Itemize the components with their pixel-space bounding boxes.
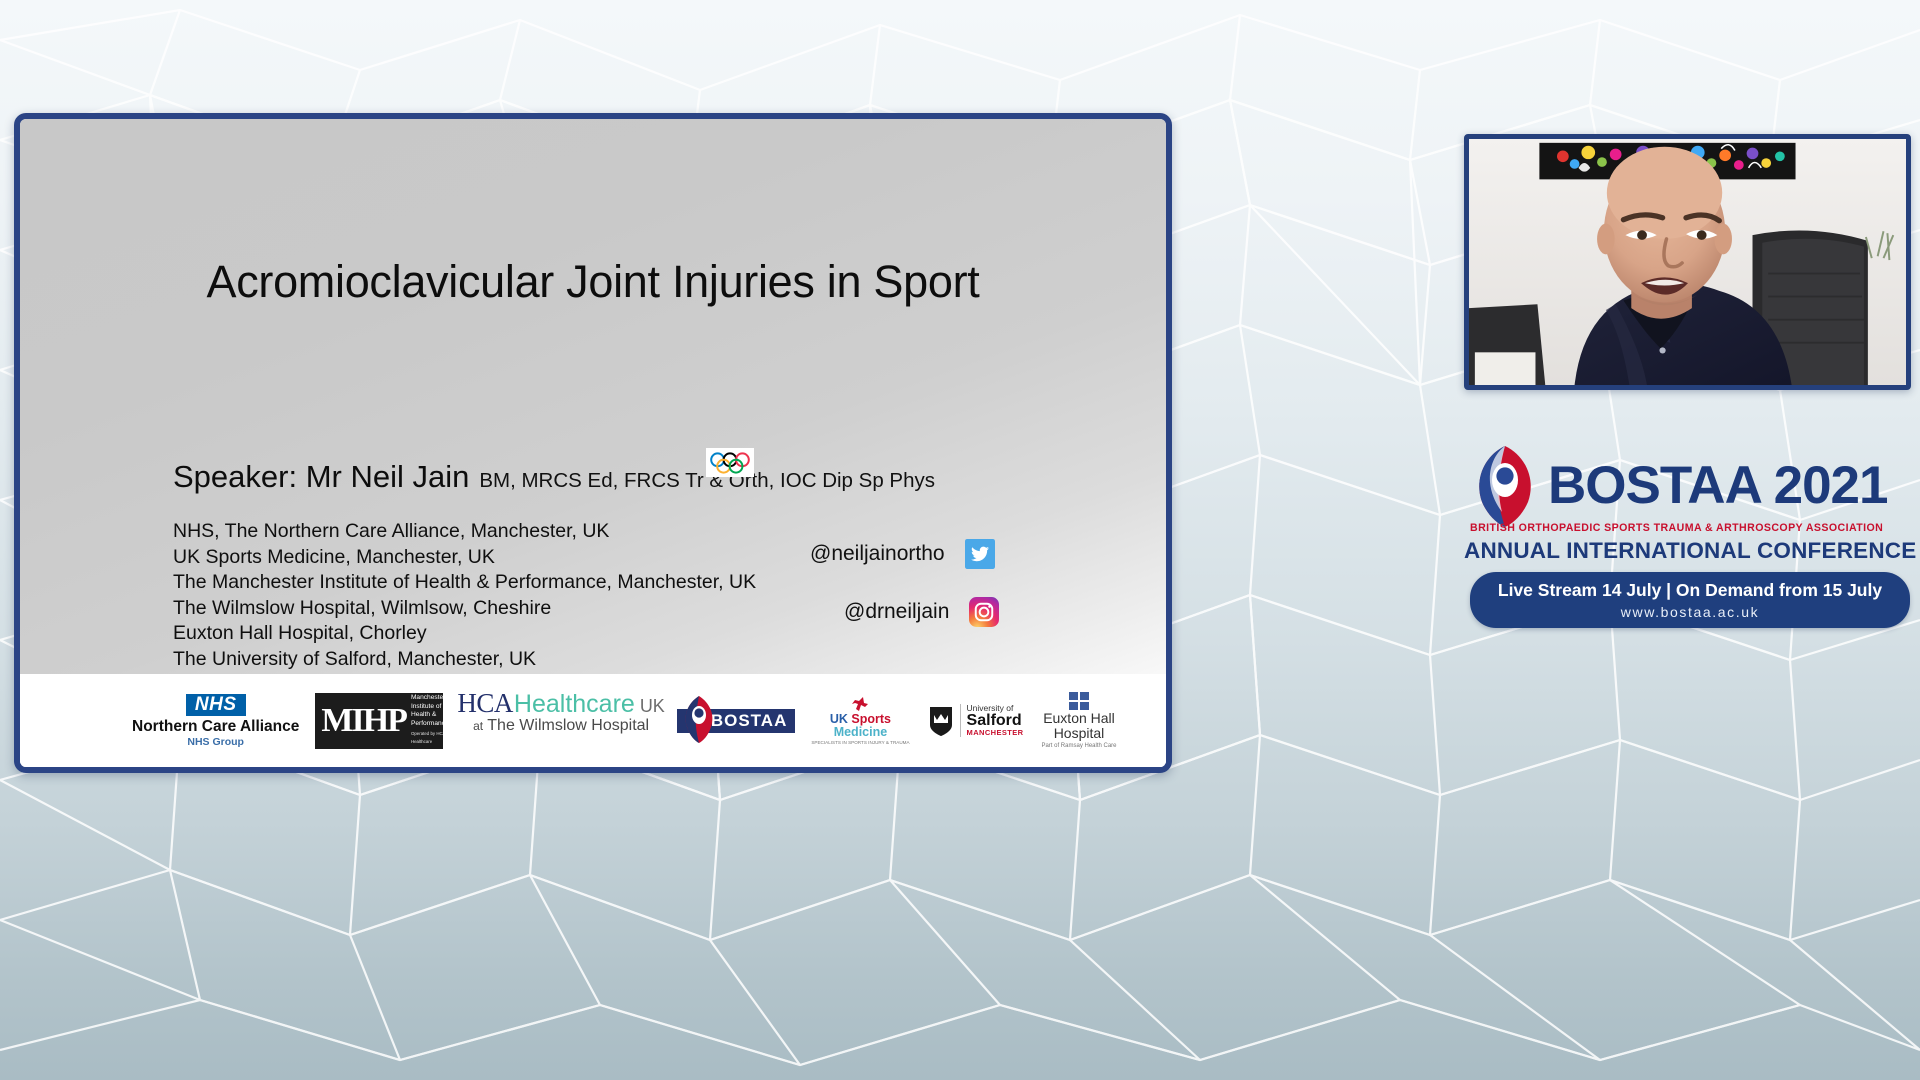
bostaa-logo-icon xyxy=(1464,442,1546,528)
euxton-line1: Euxton Hall xyxy=(1043,711,1115,726)
ramsay-mark-icon xyxy=(1068,691,1090,711)
logo-mihp: MIHP Manchester Institute of Health & Pe… xyxy=(299,690,443,752)
instagram-handle: @drneiljain xyxy=(844,600,949,624)
hca-sub: The Wilmslow Hospital xyxy=(487,717,649,734)
speaker-name: Speaker: Mr Neil Jain xyxy=(173,459,469,495)
affiliations-list: NHS, The Northern Care Alliance, Manches… xyxy=(173,519,756,672)
bostaa-logo-row: BOSTAA 2021 xyxy=(1464,442,1888,528)
euxton-line2: Hospital xyxy=(1054,726,1105,741)
mihp-line2: Institute of xyxy=(411,703,449,711)
speaker-video-feed[interactable] xyxy=(1464,134,1911,390)
twitter-handle-row[interactable]: @neiljainortho xyxy=(810,539,995,569)
speaker-line: Speaker: Mr Neil Jain BM, MRCS Ed, FRCS … xyxy=(173,459,935,495)
hca-part2: Healthcare xyxy=(514,692,635,717)
bostaa-mark-icon xyxy=(677,693,721,745)
uksm-line2: Medicine xyxy=(834,726,888,739)
stream-info-pill[interactable]: Live Stream 14 July | On Demand from 15 … xyxy=(1470,572,1910,628)
affiliation-item: UK Sports Medicine, Manchester, UK xyxy=(173,545,756,571)
runner-icon xyxy=(849,695,871,713)
conference-website: www.bostaa.ac.uk xyxy=(1621,604,1759,620)
bostaa-2021-wordmark: BOSTAA 2021 xyxy=(1548,459,1888,512)
bostaa-tagline: BRITISH ORTHOPAEDIC SPORTS TRAUMA & ARTH… xyxy=(1470,522,1916,534)
salford-crest-icon xyxy=(928,705,954,737)
logo-euxton-hall-hospital: Euxton Hall Hospital Part of Ramsay Heal… xyxy=(1041,690,1116,752)
logo-hca-healthcare: HCA Healthcare UK at The Wilmslow Hospit… xyxy=(457,690,664,752)
twitter-handle: @neiljainortho xyxy=(810,542,945,566)
olympic-rings-icon xyxy=(706,448,754,477)
stream-schedule: Live Stream 14 July | On Demand from 15 … xyxy=(1498,580,1882,601)
affiliation-item: The Manchester Institute of Health & Per… xyxy=(173,570,756,596)
screen-root: Acromioclavicular Joint Injuries in Spor… xyxy=(0,0,1920,1080)
hca-part3: UK xyxy=(640,697,665,715)
affiliation-item: NHS, The Northern Care Alliance, Manches… xyxy=(173,519,756,545)
instagram-handle-row[interactable]: @drneiljain xyxy=(844,597,999,627)
mihp-line4: Performance xyxy=(411,720,449,728)
twitter-icon[interactable] xyxy=(965,539,995,569)
instagram-icon[interactable] xyxy=(969,597,999,627)
salford-line3: MANCHESTER xyxy=(967,729,1024,737)
affiliation-item: Euxton Hall Hospital, Chorley xyxy=(173,621,756,647)
nhs-sub: NHS Group xyxy=(187,737,244,748)
salford-line2: Salford xyxy=(967,713,1024,729)
sponsor-logo-band: NHS Northern Care Alliance NHS Group MIH… xyxy=(20,674,1166,767)
conference-branding-panel: BOSTAA 2021 BRITISH ORTHOPAEDIC SPORTS T… xyxy=(1464,430,1916,655)
hca-part1: HCA xyxy=(457,690,513,717)
mihp-mark: MIHP xyxy=(321,704,406,738)
logo-bostaa-small: BOSTAA xyxy=(677,695,796,747)
mihp-line3: Health & xyxy=(411,711,449,719)
mihp-fine: Operated by HCA Healthcare xyxy=(411,730,449,747)
nhs-badge: NHS xyxy=(186,694,246,717)
nhs-name: Northern Care Alliance xyxy=(132,719,299,735)
uksm-line1-a: UK xyxy=(830,712,848,726)
uksm-fine: SPECIALISTS IN SPORTS INJURY & TRAUMA xyxy=(811,741,909,746)
presentation-slide[interactable]: Acromioclavicular Joint Injuries in Spor… xyxy=(14,113,1172,773)
conference-subtitle: ANNUAL INTERNATIONAL CONFERENCE xyxy=(1464,538,1916,564)
logo-nhs-northern-care-alliance: NHS Northern Care Alliance NHS Group xyxy=(132,690,299,752)
video-frame xyxy=(1469,139,1906,385)
hca-sub-small: at xyxy=(473,719,483,733)
affiliation-item: The University of Salford, Manchester, U… xyxy=(173,647,756,673)
slide-title: Acromioclavicular Joint Injuries in Spor… xyxy=(20,259,1166,304)
mihp-line1: Manchester xyxy=(411,694,449,702)
logo-uk-sports-medicine: UK Sports Medicine SPECIALISTS IN SPORTS… xyxy=(811,690,909,752)
euxton-fine: Part of Ramsay Health Care xyxy=(1041,743,1116,749)
logo-university-of-salford: University of Salford MANCHESTER xyxy=(928,690,1024,752)
uksm-line1-b: Sports xyxy=(851,712,891,726)
affiliation-item: The Wilmslow Hospital, Wilmlsow, Cheshir… xyxy=(173,596,756,622)
slide-content: Acromioclavicular Joint Injuries in Spor… xyxy=(20,119,1166,767)
